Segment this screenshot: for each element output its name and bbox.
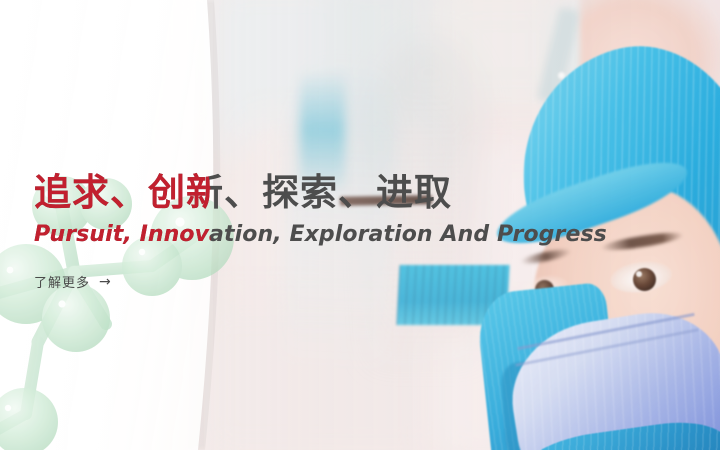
subheadline-wrapper: Pursuit, Innovation, Exploration And Pro…: [34, 220, 694, 250]
headline-wrapper: 追求、创新、探索、进取 追求、创新、探索、进取: [34, 170, 694, 216]
hero-banner: 追求、创新、探索、进取 追求、创新、探索、进取 Pursuit, Innovat…: [0, 0, 720, 450]
arrow-right-icon: →: [99, 275, 112, 289]
learn-more-label: 了解更多: [34, 272, 90, 291]
hero-copy: 追求、创新、探索、进取 追求、创新、探索、进取 Pursuit, Innovat…: [34, 170, 694, 292]
learn-more-link[interactable]: 了解更多 →: [34, 272, 112, 291]
